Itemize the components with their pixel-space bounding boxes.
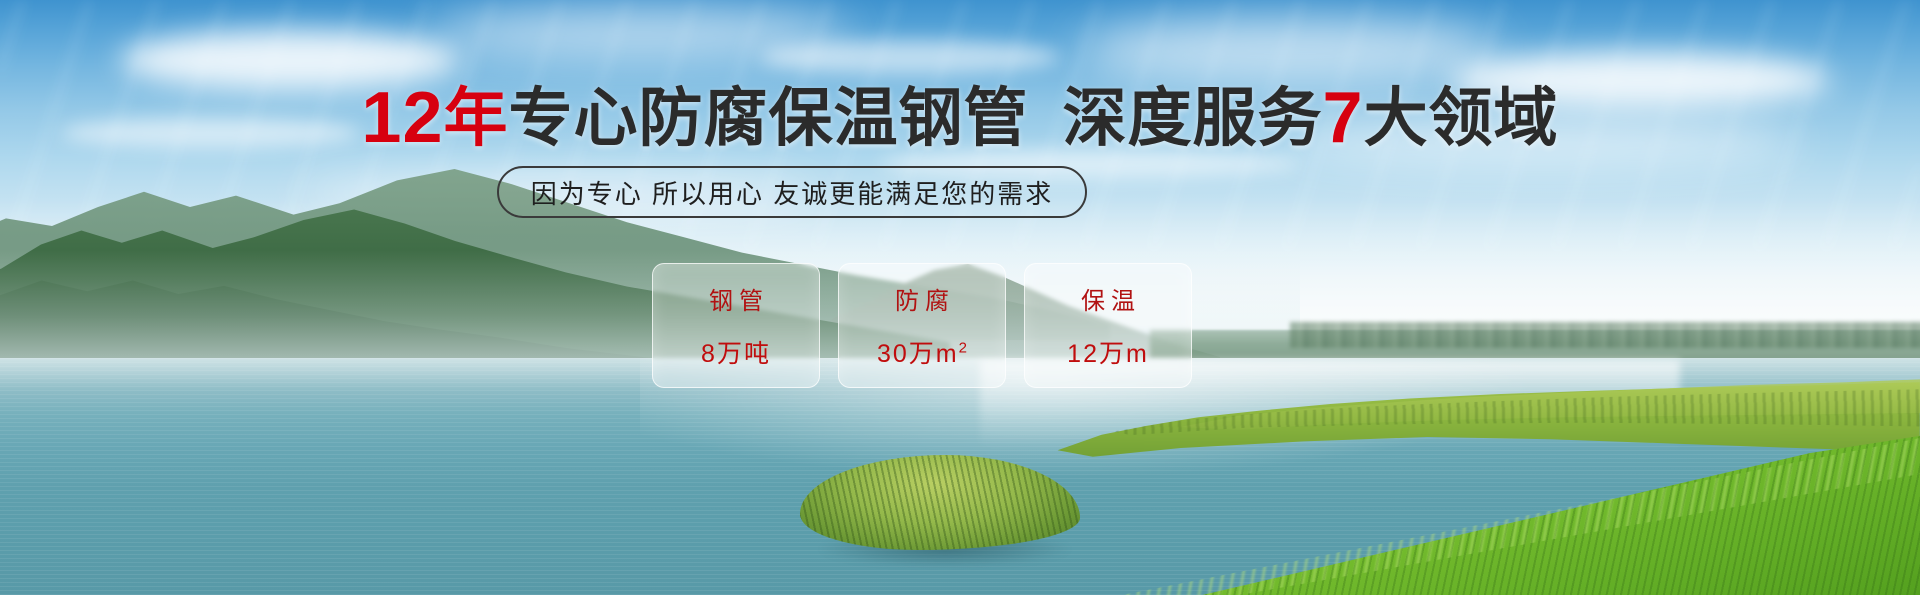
stat-card-title: 保温 bbox=[1075, 281, 1141, 316]
stat-card-value-superscript: 2 bbox=[959, 340, 967, 357]
stat-card-value-main: 8万吨 bbox=[701, 340, 771, 368]
cloud-icon bbox=[1080, 18, 1500, 82]
headline-fields-text: 大领域 bbox=[1364, 82, 1559, 154]
stat-card-value-main: 12万m bbox=[1067, 340, 1149, 368]
stat-card-list: 钢管 8万吨 防腐 30万m2 保温 12万m bbox=[652, 263, 1192, 388]
stat-card-insulation[interactable]: 保温 12万m bbox=[1024, 263, 1192, 388]
subtitle-pill: 因为专心 所以用心 友诚更能满足您的需求 bbox=[497, 166, 1087, 218]
headline-service-text: 深度服务 bbox=[1063, 82, 1323, 154]
headline-fields-number: 7 bbox=[1323, 78, 1364, 158]
stat-card-anticorrosion[interactable]: 防腐 30万m2 bbox=[838, 263, 1006, 388]
stat-card-title: 防腐 bbox=[889, 281, 955, 316]
subtitle-text: 因为专心 所以用心 友诚更能满足您的需求 bbox=[531, 174, 1053, 211]
stat-card-value-main: 30万m bbox=[877, 340, 959, 368]
cloud-icon bbox=[760, 40, 1060, 74]
stat-card-title: 钢管 bbox=[703, 281, 769, 316]
stat-card-value: 12万m bbox=[1067, 334, 1149, 370]
stat-card-value: 30万m2 bbox=[877, 334, 967, 370]
stat-card-steel-pipe[interactable]: 钢管 8万吨 bbox=[652, 263, 820, 388]
headline: 12年专心防腐保温钢管深度服务7大领域 bbox=[0, 82, 1920, 154]
headline-main-text: 专心防腐保温钢管 bbox=[509, 82, 1029, 154]
headline-years-unit: 年 bbox=[444, 82, 509, 154]
far-treeline bbox=[1290, 322, 1920, 348]
headline-years-number: 12 bbox=[361, 78, 443, 158]
hero-banner: 12年专心防腐保温钢管深度服务7大领域 因为专心 所以用心 友诚更能满足您的需求… bbox=[0, 0, 1920, 595]
stat-card-value: 8万吨 bbox=[701, 334, 771, 370]
